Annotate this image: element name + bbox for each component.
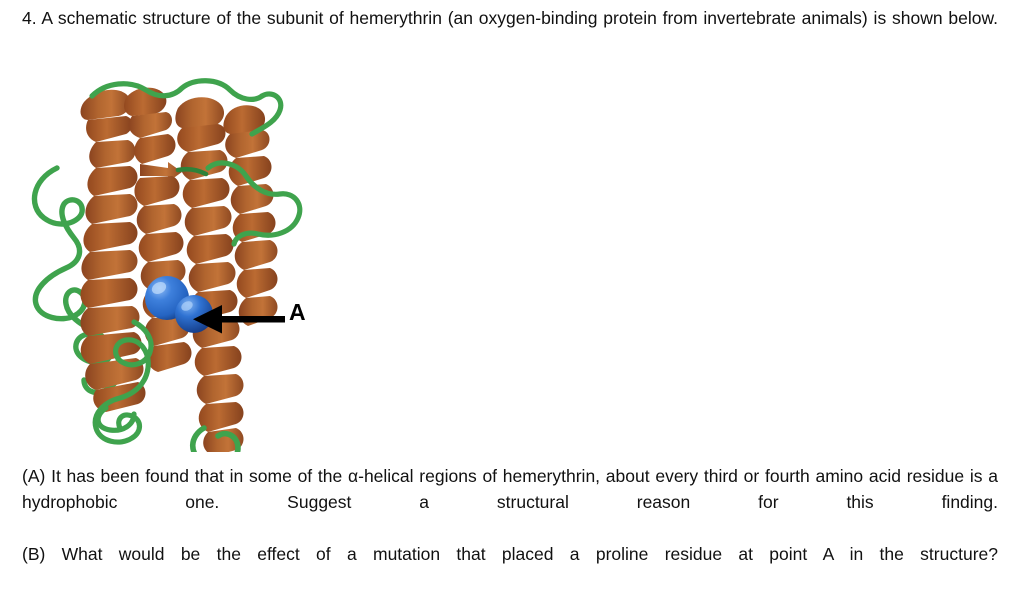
question-stem: 4. A schematic structure of the subunit … (22, 6, 998, 56)
question-part-a: (A) It has been found that in some of th… (22, 463, 998, 541)
protein-ribbon-diagram (22, 72, 352, 452)
hemerythrin-structure-figure (22, 72, 352, 452)
annotation-label-a: A (289, 301, 306, 324)
question-part-b: (B) What would be the effect of a mutati… (22, 541, 998, 593)
